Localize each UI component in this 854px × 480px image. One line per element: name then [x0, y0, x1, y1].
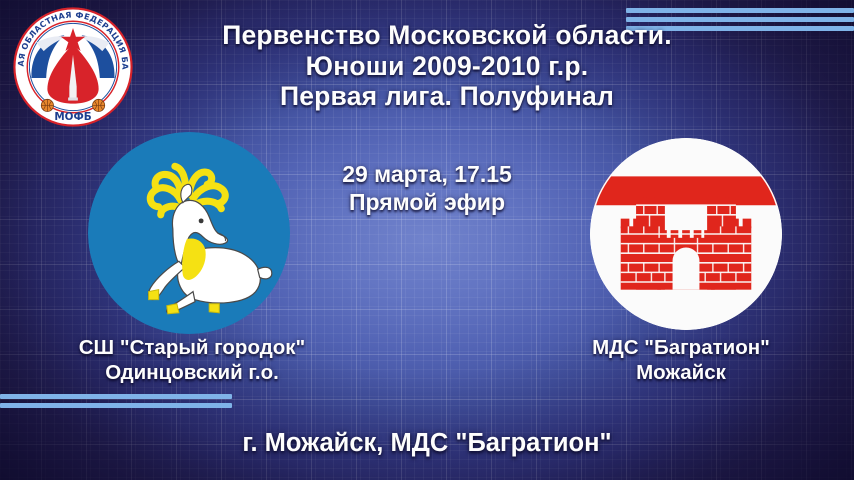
- match-announcement-poster: МОСКОВСКАЯ ОБЛАСТНАЯ ФЕДЕРАЦИЯ БАСКЕТБОЛ…: [0, 0, 854, 480]
- headline-line-3: Первая лига. Полуфинал: [40, 81, 854, 112]
- broadcast-status: Прямой эфир: [277, 188, 577, 216]
- venue-label: г. Можайск, МДС "Багратион": [242, 429, 611, 457]
- away-team-emblem: [590, 138, 782, 330]
- headline-line-2: Юноши 2009-2010 г.р.: [40, 51, 854, 82]
- decor-bar: [626, 8, 854, 13]
- decor-bar: [0, 403, 232, 408]
- federation-logo: МОСКОВСКАЯ ОБЛАСТНАЯ ФЕДЕРАЦИЯ БАСКЕТБОЛ…: [12, 6, 134, 128]
- home-team-emblem: [88, 132, 290, 334]
- away-team-club: МДС "Багратион": [508, 336, 854, 361]
- match-datetime: 29 марта, 17.15: [277, 160, 577, 188]
- datetime-block: 29 марта, 17.15 Прямой эфир: [277, 160, 577, 216]
- decor-bar: [0, 394, 232, 399]
- venue-block: г. Можайск, МДС "Багратион": [0, 429, 854, 458]
- headline-line-1: Первенство Московской области.: [40, 20, 854, 51]
- federation-abbreviation: МОФБ: [54, 111, 91, 123]
- home-team-city: Одинцовский г.о.: [12, 361, 372, 386]
- home-team-name: СШ "Старый городок" Одинцовский г.о.: [12, 336, 372, 385]
- decor-bars-bottom-left: [0, 394, 232, 408]
- away-team-city: Можайск: [508, 361, 854, 386]
- away-team-name: МДС "Багратион" Можайск: [508, 336, 854, 385]
- home-team-club: СШ "Старый городок": [12, 336, 372, 361]
